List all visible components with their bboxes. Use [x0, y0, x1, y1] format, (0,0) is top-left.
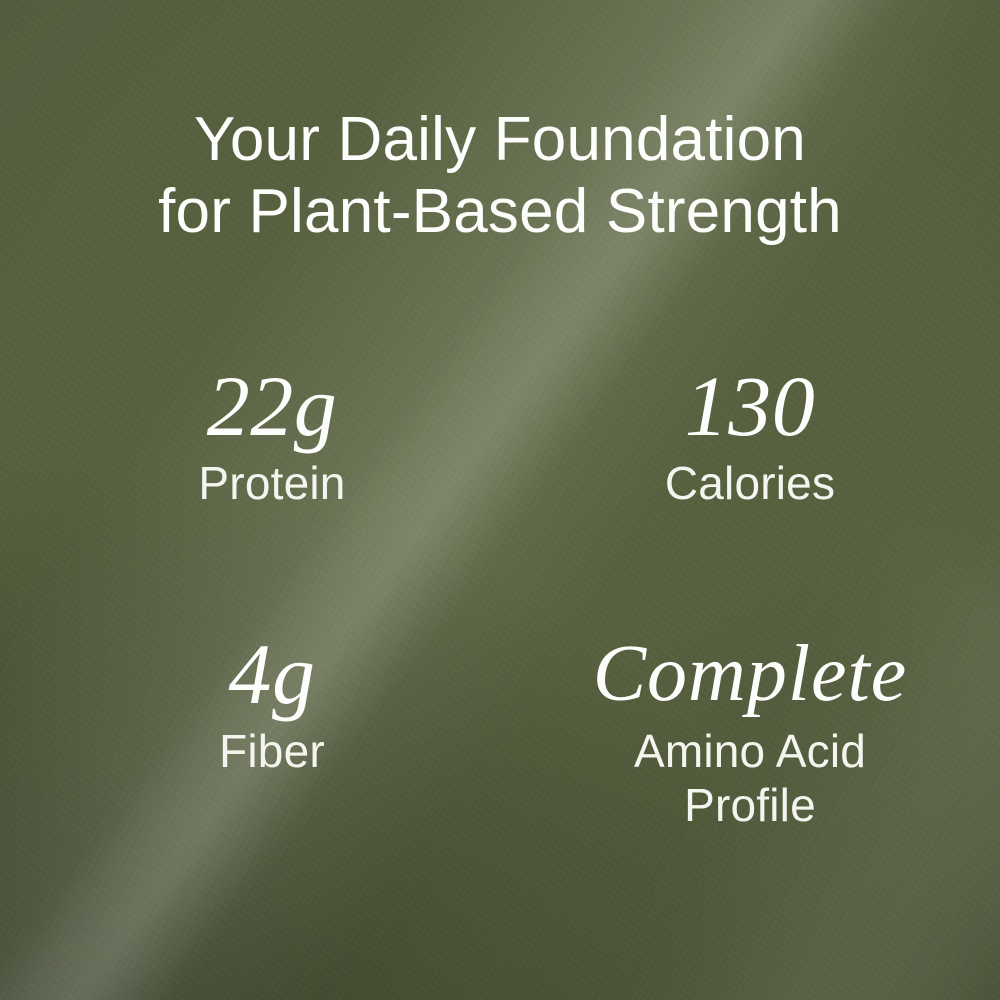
nutrition-promo-graphic: Your Daily Foundation for Plant-Based St… — [0, 0, 1000, 1000]
stat-fiber-label: Fiber — [219, 724, 325, 778]
stat-cell-fiber: 4g Fiber — [0, 628, 500, 832]
stat-calories-label: Calories — [665, 456, 835, 510]
stat-protein: 22g Protein — [44, 360, 500, 510]
stat-cell-protein: 22g Protein — [0, 360, 500, 510]
stat-fiber-value: 4g — [229, 628, 316, 720]
stat-amino-acid-profile-label: Amino Acid Profile — [634, 724, 866, 832]
stat-protein-label: Protein — [198, 456, 345, 510]
content-layer: Your Daily Foundation for Plant-Based St… — [0, 0, 1000, 1000]
stat-calories: 130 Calories — [500, 360, 1000, 510]
stat-calories-value: 130 — [685, 360, 816, 452]
stat-fiber: 4g Fiber — [44, 628, 500, 778]
stat-cell-calories: 130 Calories — [500, 360, 1000, 510]
stat-amino-acid-profile: Complete Amino Acid Profile — [500, 628, 1000, 832]
nutrition-stats-grid: 22g Protein 130 Calories 4g Fiber Comple… — [0, 360, 1000, 832]
stat-cell-amino-acid-profile: Complete Amino Acid Profile — [500, 628, 1000, 832]
stat-amino-acid-profile-value: Complete — [593, 628, 908, 720]
page-title: Your Daily Foundation for Plant-Based St… — [0, 104, 1000, 248]
stat-protein-value: 22g — [207, 360, 338, 452]
